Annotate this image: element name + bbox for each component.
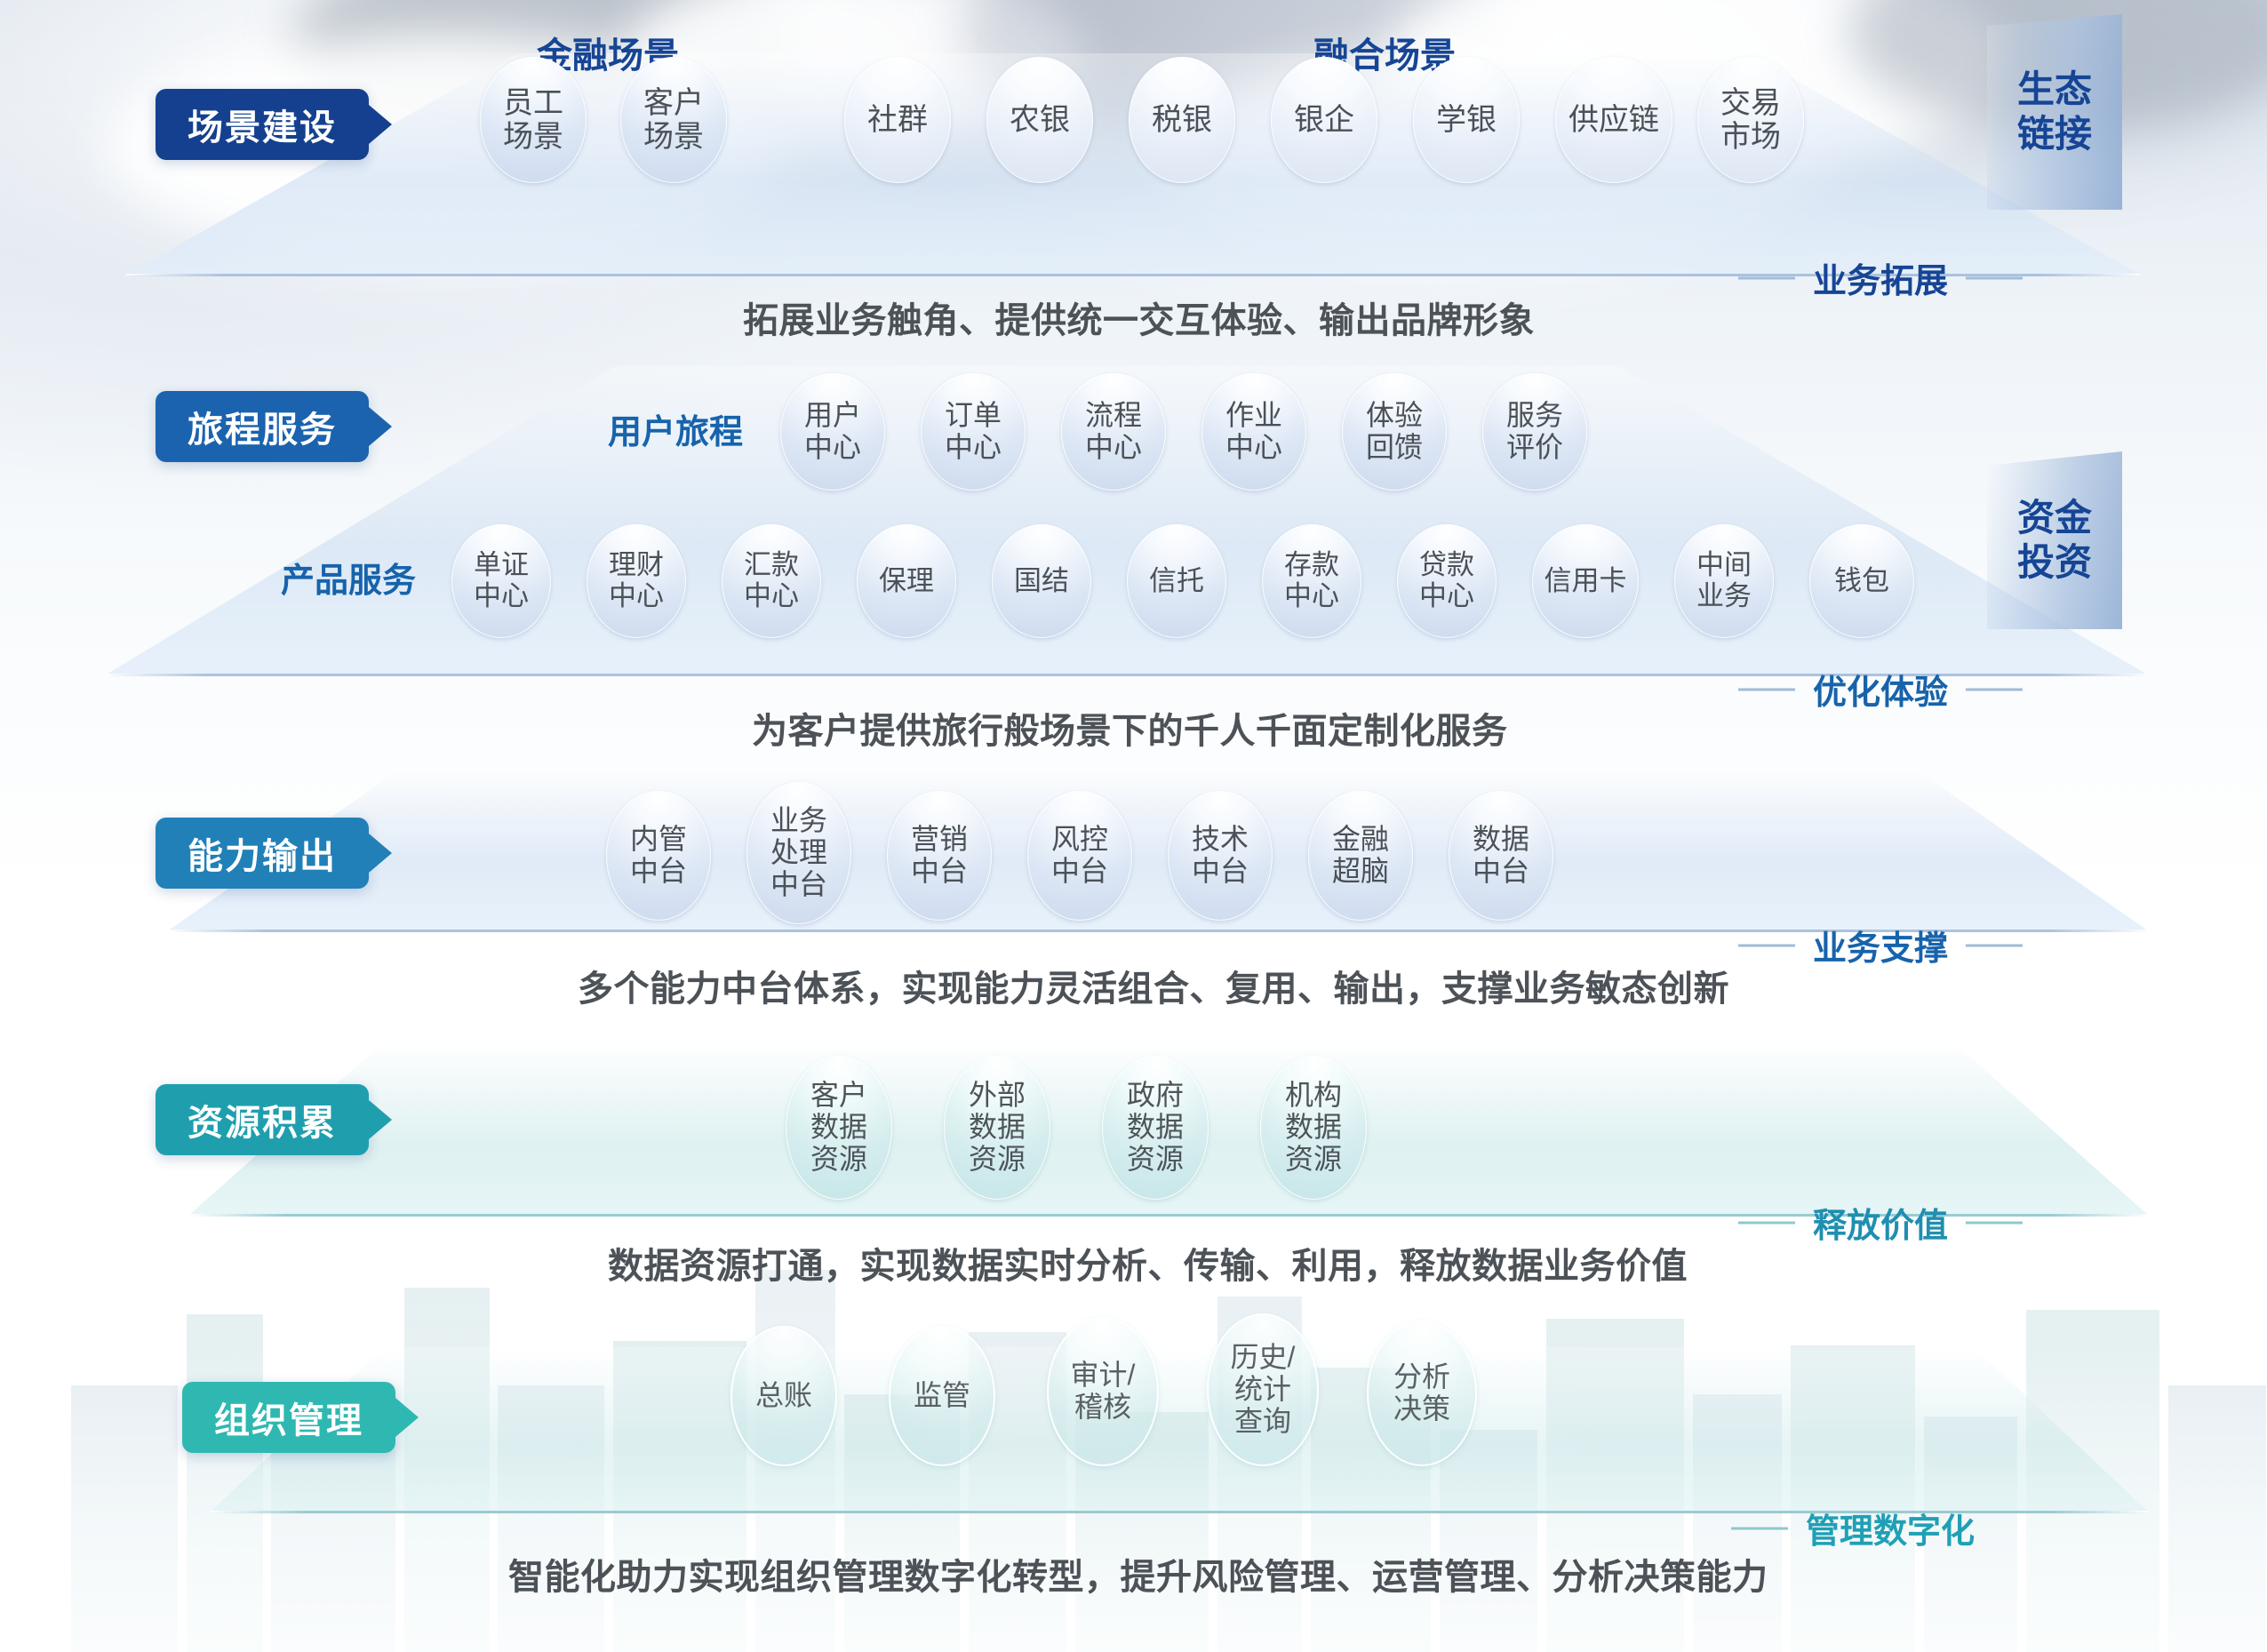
node-org-history-statistics[interactable]: 历史/统计查询 — [1207, 1313, 1319, 1466]
node-product-deposit-center[interactable]: 存款中心 — [1262, 524, 1361, 638]
node-journey-user-center[interactable]: 用户中心 — [780, 373, 885, 491]
layer-tag-scene[interactable]: 场景建设 — [156, 89, 369, 160]
node-scene-community[interactable]: 社群 — [844, 57, 951, 183]
node-product-loan-center[interactable]: 贷款中心 — [1397, 524, 1497, 638]
node-label: 钱包 — [1834, 566, 1889, 597]
node-resource-customer-data[interactable]: 客户数据资源 — [786, 1056, 892, 1200]
summary-journey: 为客户提供旅行般场景下的千人千面定制化服务 — [752, 702, 1508, 754]
node-label: 分析决策 — [1393, 1361, 1450, 1425]
node-journey-order-center[interactable]: 订单中心 — [921, 373, 1026, 491]
node-label: 单证中心 — [474, 550, 529, 611]
outcome-dash-left — [1731, 1527, 1788, 1529]
tag-arrow-icon — [369, 407, 392, 446]
outcome-label-release-value: 释放价值 — [1813, 1198, 1948, 1247]
node-label: 政府数据资源 — [1127, 1080, 1184, 1175]
node-product-credit-card[interactable]: 信用卡 — [1532, 524, 1639, 638]
node-product-document-center[interactable]: 单证中心 — [451, 524, 551, 638]
outcome-label-business-support: 业务支撑 — [1813, 921, 1948, 970]
node-label: 客户场景 — [643, 86, 704, 154]
node-label: 保理 — [879, 566, 934, 597]
layer-tag-organization[interactable]: 组织管理 — [182, 1382, 395, 1453]
node-label: 风控中台 — [1051, 824, 1108, 888]
node-product-remittance-center[interactable]: 汇款中心 — [722, 524, 821, 638]
node-label: 审计/稽核 — [1071, 1360, 1136, 1424]
node-scene-customer[interactable]: 客户场景 — [620, 57, 727, 183]
node-label: 银企 — [1294, 103, 1354, 137]
outcome-text: 释放价值 — [1813, 1208, 1948, 1245]
ribbon-label: 资金投资 — [2017, 496, 2092, 584]
summary-resource: 数据资源打通，实现数据实时分析、传输、利用，释放数据业务价值 — [608, 1237, 1688, 1289]
node-label: 理财中心 — [609, 550, 664, 611]
node-label: 客户数据资源 — [810, 1080, 867, 1175]
group-label-product-service: 产品服务 — [281, 553, 416, 602]
node-label: 农银 — [1010, 103, 1070, 137]
node-scene-trading-market[interactable]: 交易市场 — [1697, 57, 1804, 183]
ribbon-label: 生态链接 — [2017, 68, 2092, 156]
outcome-text: 管理数字化 — [1806, 1513, 1975, 1551]
outcome-dash-left — [1738, 944, 1795, 946]
node-product-intermediary-business[interactable]: 中间业务 — [1674, 524, 1774, 638]
node-label: 外部数据资源 — [969, 1080, 1026, 1175]
outcome-dash-right — [1966, 1221, 2023, 1224]
outcome-label-business-expansion: 业务拓展 — [1813, 253, 1948, 302]
node-capability-risk-control[interactable]: 风控中台 — [1027, 791, 1132, 921]
node-label: 员工场景 — [503, 86, 563, 154]
node-journey-operation-center[interactable]: 作业中心 — [1201, 373, 1306, 491]
tier-band-organization — [210, 1347, 2149, 1512]
node-scene-tax-bank[interactable]: 税银 — [1129, 57, 1235, 183]
node-label: 内管中台 — [630, 824, 687, 888]
ribbon-ecosystem-link: 生态链接 — [1987, 14, 2122, 210]
node-label: 总账 — [755, 1380, 812, 1412]
node-capability-technology[interactable]: 技术中台 — [1168, 791, 1273, 921]
node-label: 作业中心 — [1225, 400, 1282, 464]
node-product-wealth-center[interactable]: 理财中心 — [587, 524, 686, 638]
node-label: 流程中心 — [1085, 400, 1142, 464]
node-resource-institution-data[interactable]: 机构数据资源 — [1260, 1056, 1367, 1200]
outcome-label-optimize-experience: 优化体验 — [1813, 665, 1948, 714]
layer-tag-label: 组织管理 — [214, 1392, 363, 1443]
summary-capability: 多个能力中台体系，实现能力灵活组合、复用、输出，支撑业务敏态创新 — [578, 960, 1729, 1011]
node-label: 技术中台 — [1192, 824, 1249, 888]
outcome-text: 业务拓展 — [1813, 263, 1948, 300]
node-capability-business-processing[interactable]: 业务处理中台 — [746, 782, 851, 924]
node-label: 信托 — [1149, 566, 1204, 597]
node-label: 服务评价 — [1506, 400, 1563, 464]
node-label: 机构数据资源 — [1285, 1080, 1342, 1175]
outcome-dash-left — [1738, 276, 1795, 279]
node-label: 营销中台 — [911, 824, 968, 888]
layer-tag-label: 旅程服务 — [188, 401, 337, 452]
node-journey-experience-feedback[interactable]: 体验回馈 — [1342, 373, 1447, 491]
node-label: 税银 — [1152, 103, 1212, 137]
layer-tag-journey[interactable]: 旅程服务 — [156, 391, 369, 462]
layer-tag-resource[interactable]: 资源积累 — [156, 1084, 369, 1155]
node-journey-process-center[interactable]: 流程中心 — [1061, 373, 1166, 491]
node-label: 信用卡 — [1545, 566, 1627, 597]
node-scene-bank-enterprise[interactable]: 银企 — [1271, 57, 1377, 183]
node-label: 汇款中心 — [744, 550, 799, 611]
node-product-trust[interactable]: 信托 — [1127, 524, 1226, 638]
outcome-dash-right — [1966, 688, 2023, 690]
outcome-dash-left — [1738, 1221, 1795, 1224]
node-org-audit[interactable]: 审计/稽核 — [1047, 1317, 1159, 1466]
outcome-dash-right — [1966, 944, 2023, 946]
tag-arrow-icon — [369, 1100, 392, 1139]
ribbon-capital-investment: 资金投资 — [1987, 451, 2122, 629]
node-capability-financial-brain[interactable]: 金融超脑 — [1308, 791, 1413, 921]
node-product-factoring[interactable]: 保理 — [857, 524, 956, 638]
tag-arrow-icon — [395, 1398, 419, 1437]
node-label: 学银 — [1436, 103, 1497, 137]
tier-band-capability — [167, 766, 2149, 931]
node-capability-data[interactable]: 数据中台 — [1449, 791, 1553, 921]
layer-tag-label: 能力输出 — [188, 827, 337, 879]
node-capability-marketing[interactable]: 营销中台 — [887, 791, 992, 921]
layer-tag-label: 资源积累 — [188, 1094, 337, 1145]
node-label: 贷款中心 — [1419, 550, 1474, 611]
outcome-label-management-digitalization: 管理数字化 — [1806, 1504, 1975, 1552]
node-label: 供应链 — [1569, 103, 1659, 137]
node-resource-external-data[interactable]: 外部数据资源 — [944, 1056, 1050, 1200]
node-label: 存款中心 — [1284, 550, 1339, 611]
node-scene-supply-chain[interactable]: 供应链 — [1555, 57, 1672, 183]
node-scene-employee[interactable]: 员工场景 — [480, 57, 587, 183]
outcome-text: 业务支撑 — [1813, 930, 1948, 968]
node-label: 国结 — [1014, 566, 1069, 597]
node-label: 业务处理中台 — [770, 805, 827, 900]
outcome-dash-left — [1738, 688, 1795, 690]
node-org-general-ledger[interactable]: 总账 — [730, 1326, 837, 1466]
node-label: 历史/统计查询 — [1231, 1342, 1296, 1437]
tag-arrow-icon — [369, 105, 392, 144]
node-product-wallet[interactable]: 钱包 — [1809, 524, 1914, 638]
node-org-supervision[interactable]: 监管 — [889, 1326, 995, 1466]
summary-scene: 拓展业务触角、提供统一交互体验、输出品牌形象 — [743, 291, 1535, 343]
outcome-text: 优化体验 — [1813, 674, 1948, 712]
tag-arrow-icon — [369, 834, 392, 873]
group-label-user-journey: 用户旅程 — [608, 404, 743, 453]
tier-band-scene — [124, 53, 2142, 275]
node-label: 中间业务 — [1696, 550, 1752, 611]
node-label: 交易市场 — [1720, 86, 1781, 154]
outcome-dash-right — [1966, 276, 2023, 279]
node-product-intl-settlement[interactable]: 国结 — [992, 524, 1091, 638]
node-label: 社群 — [867, 103, 928, 137]
node-capability-internal-mgmt[interactable]: 内管中台 — [606, 791, 711, 921]
layer-tag-label: 场景建设 — [188, 99, 337, 150]
node-journey-service-rating[interactable]: 服务评价 — [1482, 373, 1587, 491]
node-label: 体验回馈 — [1366, 400, 1423, 464]
summary-organization: 智能化助力实现组织管理数字化转型，提升风险管理、运营管理、分析决策能力 — [508, 1548, 1768, 1600]
node-label: 订单中心 — [945, 400, 1002, 464]
node-label: 监管 — [914, 1380, 970, 1412]
layer-tag-capability[interactable]: 能力输出 — [156, 818, 369, 889]
node-label: 用户中心 — [804, 400, 861, 464]
node-scene-school-bank[interactable]: 学银 — [1413, 57, 1520, 183]
node-label: 金融超脑 — [1332, 824, 1389, 888]
node-scene-rural-bank[interactable]: 农银 — [986, 57, 1093, 183]
node-org-analysis-decision[interactable]: 分析决策 — [1367, 1321, 1477, 1466]
node-label: 数据中台 — [1473, 824, 1529, 888]
node-resource-government-data[interactable]: 政府数据资源 — [1102, 1056, 1209, 1200]
